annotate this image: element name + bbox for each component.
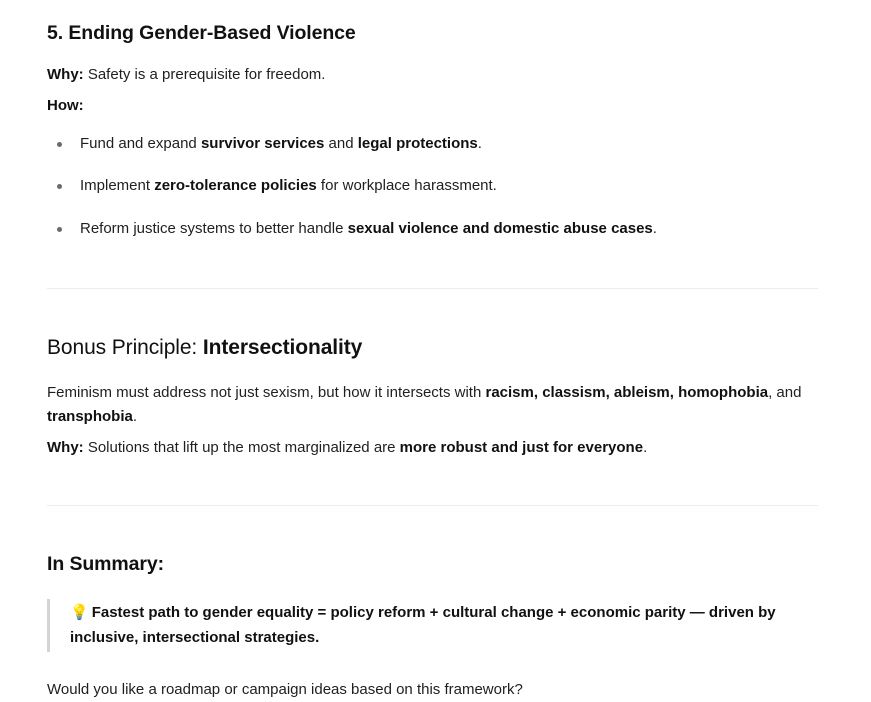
- bullet-emphasis: legal protections: [358, 135, 478, 152]
- section-gender-based-violence: 5. Ending Gender-Based Violence Why: Saf…: [47, 0, 820, 241]
- bonus-why-text: .: [643, 439, 647, 456]
- how-label: How:: [47, 97, 84, 114]
- bullet-text: .: [478, 135, 482, 152]
- bullet-text: Fund and expand: [80, 135, 201, 152]
- list-item: Implement zero-tolerance policies for wo…: [47, 174, 820, 198]
- bonus-heading-prefix: Bonus Principle:: [47, 336, 203, 359]
- document-body: 5. Ending Gender-Based Violence Why: Saf…: [0, 0, 871, 658]
- bullet-emphasis: survivor services: [201, 135, 324, 152]
- bonus-heading: Bonus Principle: Intersectionality: [47, 334, 820, 362]
- why-text: Safety is a prerequisite for freedom.: [84, 66, 326, 83]
- bonus-paragraph: Feminism must address not just sexism, b…: [47, 381, 820, 430]
- bonus-text: Feminism must address not just sexism, b…: [47, 384, 485, 401]
- summary-callout: 💡Fastest path to gender equality = polic…: [47, 599, 820, 652]
- section-bonus-principle: Bonus Principle: Intersectionality Femin…: [47, 289, 820, 460]
- bonus-why-label: Why:: [47, 439, 84, 456]
- bullet-text: Reform justice systems to better handle: [80, 220, 348, 237]
- bonus-heading-emphasis: Intersectionality: [203, 336, 362, 359]
- bonus-why-text: Solutions that lift up the most marginal…: [84, 439, 400, 456]
- bonus-emphasis: transphobia: [47, 408, 133, 425]
- how-line: How:: [47, 94, 820, 118]
- bullet-emphasis: zero-tolerance policies: [154, 177, 317, 194]
- bonus-text: .: [133, 408, 137, 425]
- section-summary: In Summary: 💡Fastest path to gender equa…: [47, 506, 820, 702]
- bonus-why-emphasis: more robust and just for everyone: [400, 439, 643, 456]
- bullet-text: and: [324, 135, 357, 152]
- summary-callout-text: Fastest path to gender equality = policy…: [70, 604, 776, 645]
- bonus-text: , and: [768, 384, 801, 401]
- bullet-text: Implement: [80, 177, 154, 194]
- bullet-text: .: [653, 220, 657, 237]
- bullet-text: for workplace harassment.: [317, 177, 497, 194]
- list-item: Fund and expand survivor services and le…: [47, 132, 820, 156]
- why-line: Why: Safety is a prerequisite for freedo…: [47, 63, 820, 87]
- lightbulb-icon: 💡: [70, 604, 89, 621]
- bullet-emphasis: sexual violence and domestic abuse cases: [348, 220, 653, 237]
- bonus-why-line: Why: Solutions that lift up the most mar…: [47, 436, 820, 460]
- summary-heading: In Summary:: [47, 551, 820, 577]
- page-title: 5. Ending Gender-Based Violence: [47, 0, 820, 46]
- list-item: Reform justice systems to better handle …: [47, 217, 820, 241]
- closing-question: Would you like a roadmap or campaign ide…: [47, 678, 820, 702]
- bonus-emphasis: racism, classism, ableism, homophobia: [485, 384, 768, 401]
- bullet-list: Fund and expand survivor services and le…: [47, 132, 820, 241]
- why-label: Why:: [47, 66, 84, 83]
